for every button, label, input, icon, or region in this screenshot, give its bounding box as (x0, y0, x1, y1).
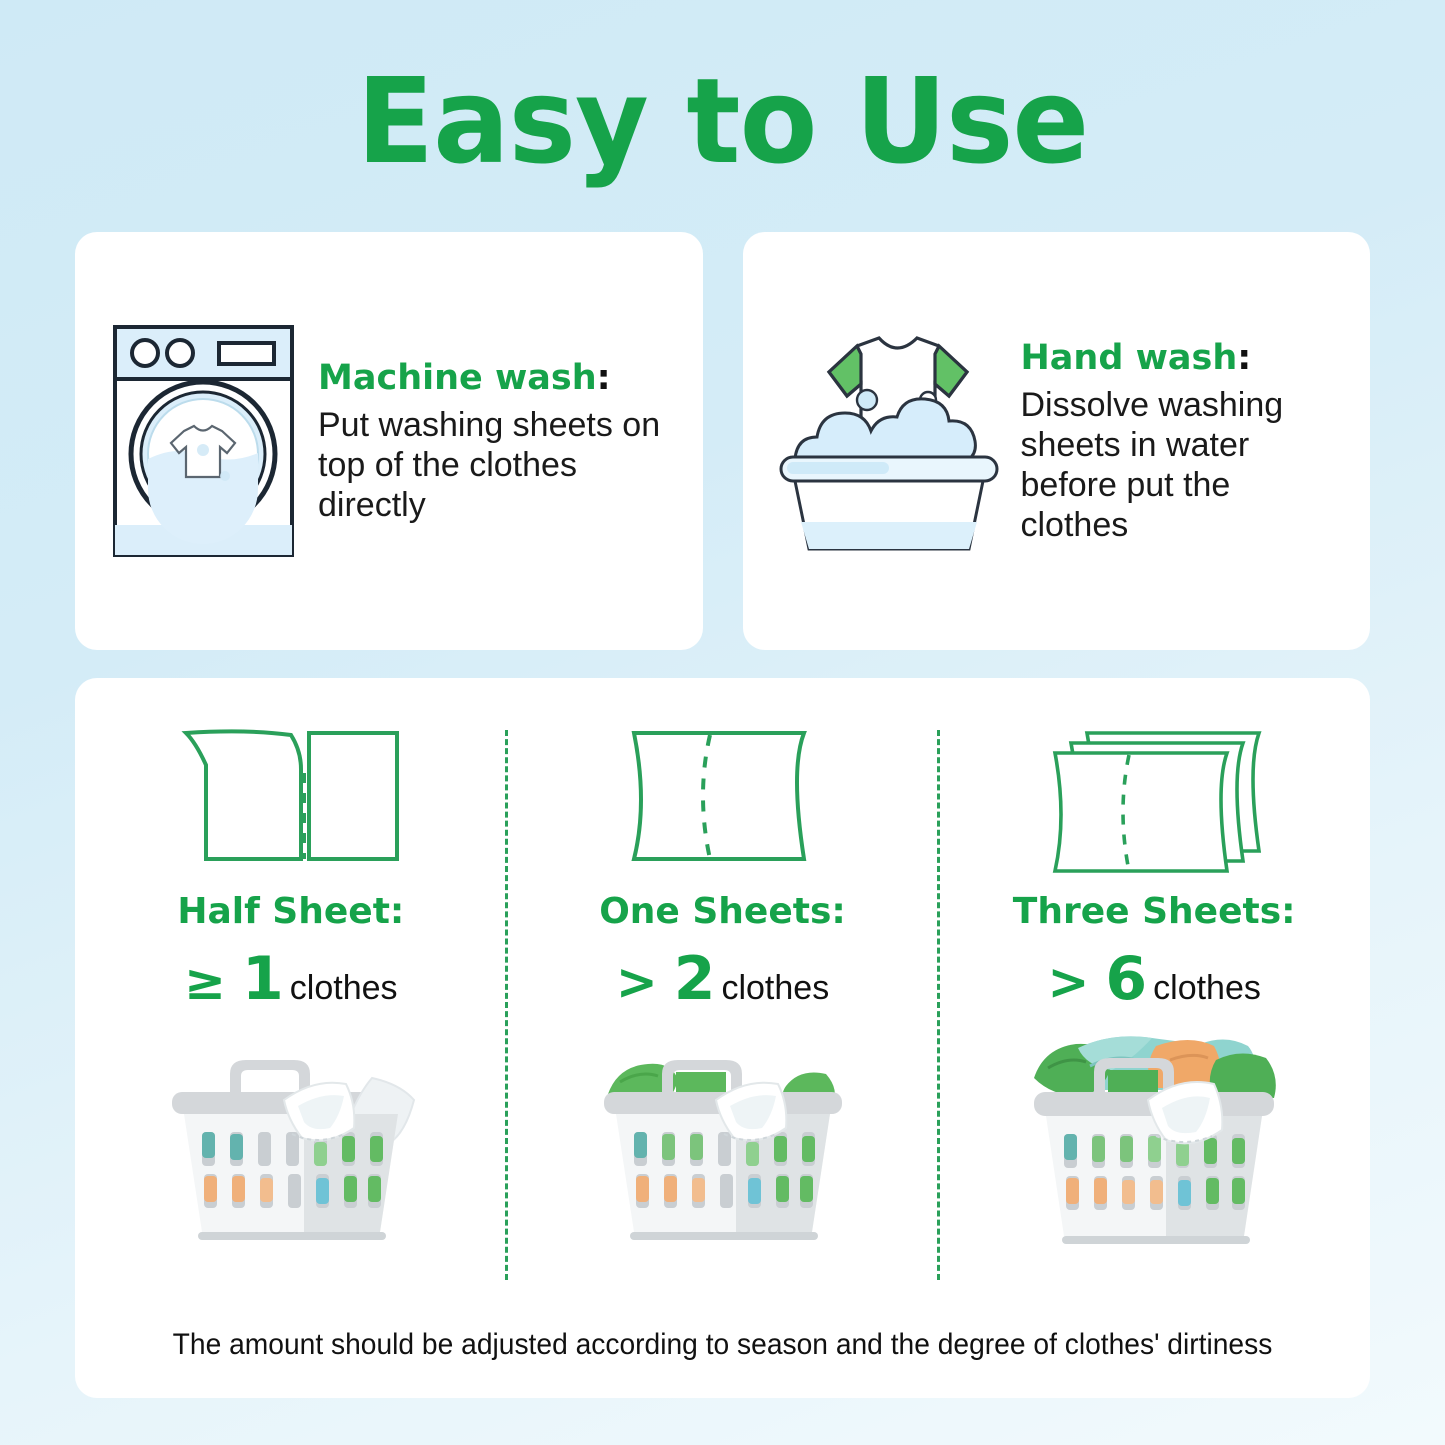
laundry-basket-full-icon (1020, 1036, 1288, 1251)
hand-wash-basin-icon (769, 324, 1009, 559)
dosage-column-one-sheet: One Sheets: > 2 clothes (507, 678, 939, 1288)
three-sheets-icon (1029, 708, 1279, 883)
dosage-footnote: The amount should be adjusted according … (114, 1328, 1331, 1362)
dosage-column-three-sheets: Three Sheets: > 6 clothes (938, 678, 1370, 1288)
dosage-columns: Half Sheet: ≥ 1 clothes (75, 678, 1370, 1288)
card-machine-wash: Machine wash: Put washing sheets on top … (75, 232, 703, 650)
card-machine-wash-body: Put washing sheets on top of the clothes… (318, 405, 677, 525)
dosage-count: 6 (1105, 944, 1147, 1014)
one-sheet-icon (618, 708, 828, 883)
dosage-count: 2 (674, 944, 716, 1014)
laundry-basket-light-icon (158, 1036, 423, 1251)
card-hand-wash: Hand wash: Dissolve washing sheets in wa… (743, 232, 1371, 650)
instruction-cards: Machine wash: Put washing sheets on top … (75, 232, 1370, 650)
dosage-unit: clothes (1153, 969, 1261, 1008)
dosage-panel: Half Sheet: ≥ 1 clothes (75, 678, 1370, 1398)
card-hand-wash-heading: Hand wash: (1021, 337, 1345, 381)
dosage-label-half-sheet: Half Sheet: (177, 891, 404, 932)
dosage-quantity-half-sheet: ≥ 1 clothes (184, 944, 397, 1014)
dosage-label-one-sheet: One Sheets: (599, 891, 846, 932)
page-title: Easy to Use (29, 0, 1416, 180)
dosage-unit: clothes (290, 969, 398, 1008)
card-hand-wash-text: Hand wash: Dissolve washing sheets in wa… (1009, 337, 1345, 545)
dosage-count: 1 (242, 944, 284, 1014)
dosage-quantity-three-sheets: > 6 clothes (1047, 944, 1260, 1014)
card-machine-wash-heading: Machine wash: (318, 357, 677, 401)
dosage-operator: > (616, 953, 658, 1011)
dosage-unit: clothes (721, 969, 829, 1008)
half-sheet-icon (176, 708, 406, 883)
dosage-column-half-sheet: Half Sheet: ≥ 1 clothes (75, 678, 507, 1288)
card-hand-wash-body: Dissolve washing sheets in water before … (1021, 385, 1345, 545)
dosage-operator: ≥ (184, 953, 226, 1011)
dosage-quantity-one-sheet: > 2 clothes (616, 944, 829, 1014)
laundry-basket-medium-icon (590, 1036, 855, 1251)
dosage-operator: > (1047, 953, 1089, 1011)
card-machine-wash-text: Machine wash: Put washing sheets on top … (306, 357, 677, 525)
dosage-label-three-sheets: Three Sheets: (1013, 891, 1296, 932)
washing-machine-icon (101, 319, 306, 564)
